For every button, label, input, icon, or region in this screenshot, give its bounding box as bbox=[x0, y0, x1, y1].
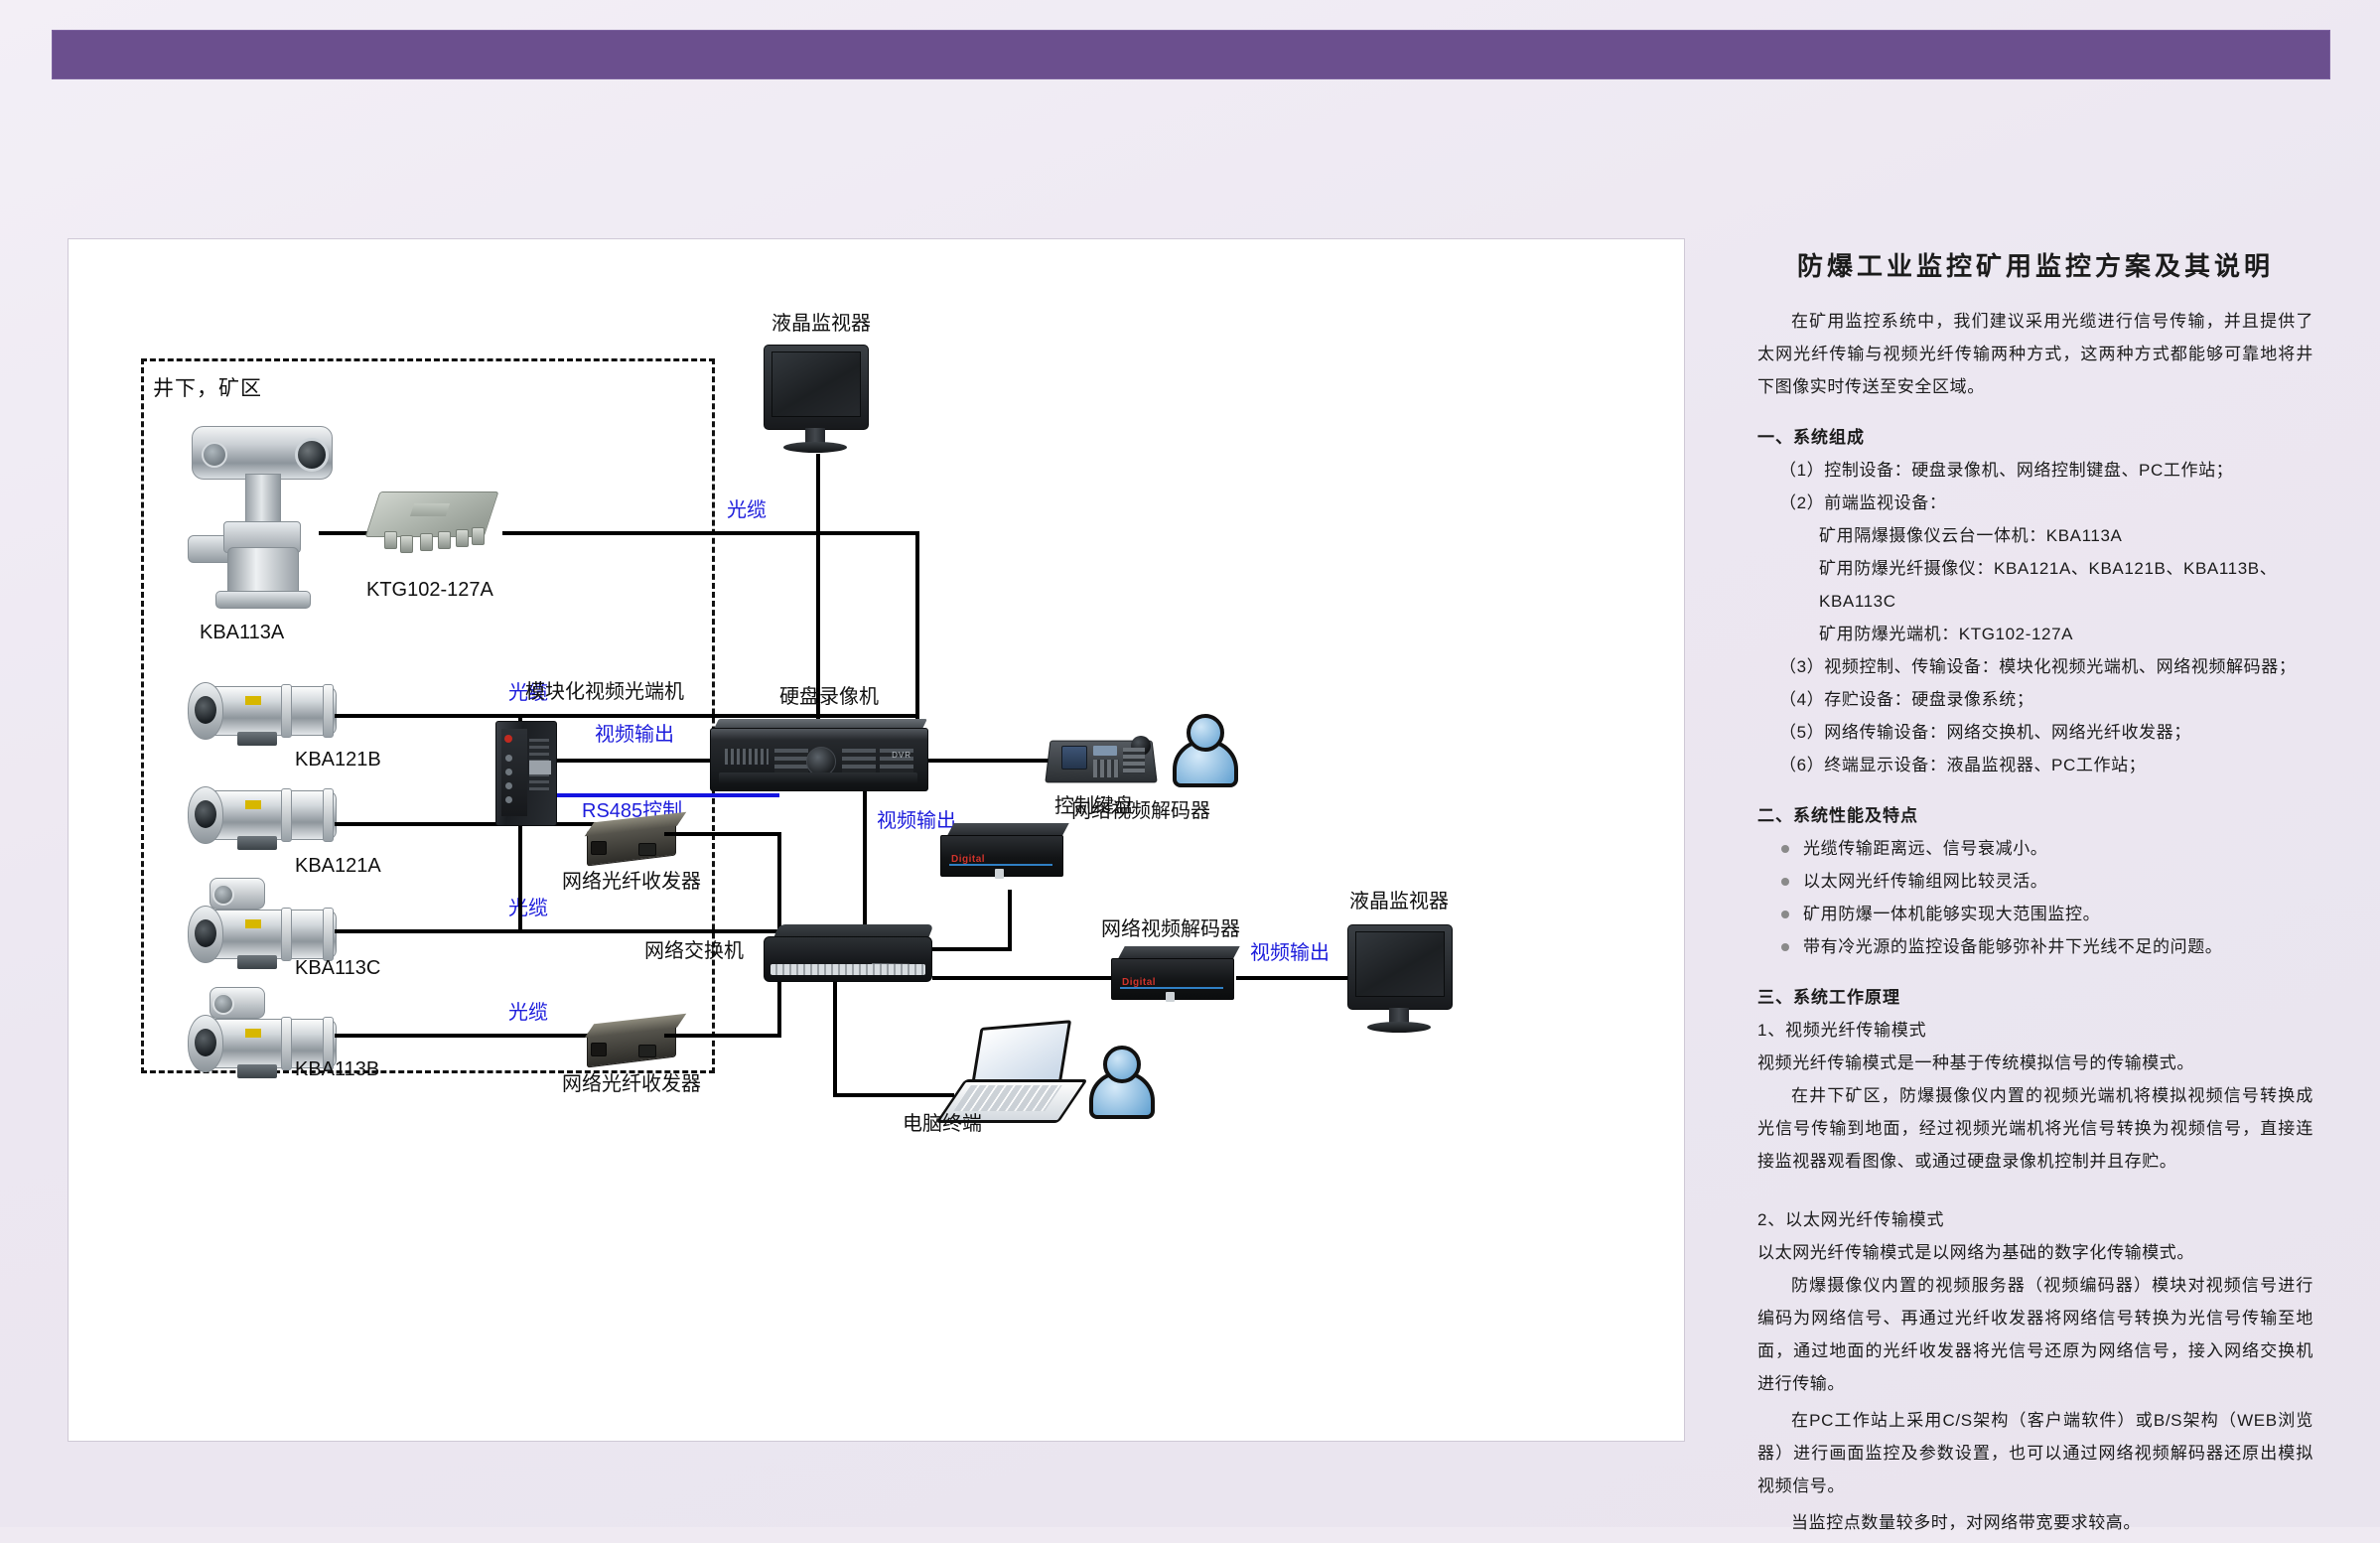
monitor-stand-base-icon bbox=[1367, 1022, 1431, 1033]
dvr-buttons-icon bbox=[774, 749, 808, 772]
header-banner bbox=[52, 30, 2330, 79]
device-control-keyboard bbox=[1048, 724, 1157, 785]
device-label-monitor-right: 液晶监视器 bbox=[1349, 891, 1449, 912]
section1-item: （3）视频控制、传输设备：模块化视频光端机、网络视频解码器； bbox=[1757, 650, 2313, 683]
avatar-head-icon bbox=[1187, 714, 1224, 752]
dvr-brand-label: DVR bbox=[892, 751, 911, 760]
wire-dvr-to-decoder-top bbox=[863, 791, 867, 924]
device-kba113a bbox=[168, 418, 356, 612]
device-dvr: DVR bbox=[710, 728, 928, 791]
device-label-media-converter-bottom: 网络光纤收发器 bbox=[562, 1073, 701, 1095]
camera-tag-icon bbox=[245, 1029, 261, 1038]
monitor-stand-base-icon bbox=[783, 442, 847, 453]
cable-gland-icon bbox=[400, 535, 413, 553]
camera-tag-icon bbox=[245, 919, 261, 928]
section-heading-3: 三、系统工作原理 bbox=[1757, 981, 2313, 1014]
wire-switch-to-decoder-bottom bbox=[932, 976, 1121, 980]
switch-chassis-icon bbox=[764, 936, 932, 982]
ptz-lens-icon bbox=[295, 438, 329, 472]
device-label-media-converter-top: 网络光纤收发器 bbox=[562, 871, 701, 893]
feature-bullet-text: 矿用防爆一体机能够实现大范围监控。 bbox=[1803, 905, 2100, 923]
wire-mc-bottom-to-switch bbox=[664, 1034, 781, 1038]
device-laptop bbox=[950, 1024, 1079, 1123]
wire-fiber-1 bbox=[502, 531, 919, 535]
mode2-paragraph-2: 在PC工作站上采用C/S架构（客户端软件）或B/S架构（WEB浏览器）进行画面监… bbox=[1757, 1404, 2313, 1502]
feature-bullet: 带有冷光源的监控设备能够弥补井下光线不足的问题。 bbox=[1757, 930, 2313, 963]
network-diagram-panel: 井下，矿区 KBA113A KTG102-127A 光缆 K bbox=[68, 238, 1685, 1442]
camera-housing-icon bbox=[204, 910, 337, 959]
wire-switch-to-laptop bbox=[833, 1093, 954, 1097]
device-label-kba113b: KBA113B bbox=[295, 1058, 379, 1080]
port-icon bbox=[505, 755, 512, 762]
bullet-dot-icon bbox=[1781, 911, 1789, 918]
monitor-screen-icon bbox=[1355, 931, 1445, 997]
dvr-drive-bay-icon bbox=[719, 772, 917, 784]
device-decoder-bottom: Digital bbox=[1111, 946, 1238, 1002]
camera-ring-icon bbox=[281, 1017, 292, 1070]
section1-subitem: 矿用隔爆摄像仪云台一体机：KBA113A bbox=[1757, 519, 2313, 552]
camera-ring-icon bbox=[281, 684, 292, 738]
dvr-status-leds-icon bbox=[725, 749, 769, 765]
feature-bullet: 以太网光纤传输组网比较灵活。 bbox=[1757, 865, 2313, 898]
switch-ports-icon bbox=[770, 964, 925, 975]
rj45-port-icon bbox=[638, 1045, 656, 1057]
avatar-head-icon bbox=[1103, 1046, 1141, 1083]
mode2-heading: 2、以太网光纤传输模式 bbox=[1757, 1203, 2313, 1236]
device-network-switch bbox=[764, 924, 934, 982]
mode2-line: 以太网光纤传输模式是以网络为基础的数字化传输模式。 bbox=[1757, 1236, 2313, 1269]
device-kba121a bbox=[186, 780, 354, 860]
avatar-operator-2 bbox=[1087, 1046, 1151, 1115]
camera-lens-icon bbox=[195, 800, 216, 828]
port-icon bbox=[505, 769, 512, 775]
feature-bullet: 矿用防爆一体机能够实现大范围监控。 bbox=[1757, 898, 2313, 930]
mode2-paragraph-3: 当监控点数量较多时，对网络带宽要求较高。 bbox=[1757, 1506, 2313, 1539]
ptz-foot-icon bbox=[215, 591, 311, 609]
bullet-dot-icon bbox=[1781, 943, 1789, 951]
section-heading-2: 二、系统性能及特点 bbox=[1757, 799, 2313, 832]
feature-bullet-text: 带有冷光源的监控设备能够弥补井下光线不足的问题。 bbox=[1803, 937, 2222, 956]
section1-item: （2）前端监视设备： bbox=[1757, 487, 2313, 519]
device-monitor-top bbox=[764, 345, 873, 456]
camera-light-lens-icon bbox=[212, 993, 234, 1015]
decoder-chassis-icon: Digital bbox=[940, 835, 1063, 877]
section1-item: （1）控制设备：硬盘录像机、网络控制键盘、PC工作站； bbox=[1757, 454, 2313, 487]
mine-zone-label: 井下，矿区 bbox=[153, 372, 262, 402]
camera-ring-icon bbox=[323, 908, 334, 961]
wire-switch-to-laptop-drop bbox=[833, 982, 837, 1097]
device-label-optical-transmitter: 模块化视频光端机 bbox=[525, 681, 684, 703]
section1-subitem: 矿用防爆光端机：KTG102-127A bbox=[1757, 618, 2313, 650]
device-label-ktg102: KTG102-127A bbox=[366, 579, 493, 601]
mode1-paragraph: 在井下矿区，防爆摄像仪内置的视频光端机将模拟视频信号转换成光信号传输到地面，经过… bbox=[1757, 1079, 2313, 1178]
device-media-converter-bottom bbox=[587, 1017, 682, 1068]
nameplate-icon bbox=[529, 761, 551, 774]
wire-dvr-to-keyboard bbox=[928, 759, 1050, 763]
link-label-fiber-1: 光缆 bbox=[727, 499, 767, 521]
link-label-fiber-5: 光缆 bbox=[508, 1002, 548, 1024]
monitor-screen-icon bbox=[771, 351, 861, 417]
wire-fiber-2 bbox=[335, 714, 919, 718]
camera-ring-icon bbox=[323, 684, 334, 738]
feature-bullet: 光缆传输距离远、信号衰减小。 bbox=[1757, 832, 2313, 865]
cable-gland-icon bbox=[456, 529, 469, 547]
link-label-fiber-4: 光缆 bbox=[508, 898, 548, 919]
camera-lens-icon bbox=[195, 919, 216, 947]
section1-item: （4）存贮设备：硬盘录像系统； bbox=[1757, 683, 2313, 716]
wire-mc-top-to-switch bbox=[664, 832, 781, 836]
decoder-button-icon bbox=[1166, 992, 1175, 1002]
device-media-converter-top bbox=[587, 815, 682, 867]
feature-bullet-text: 光缆传输距离远、信号衰减小。 bbox=[1803, 839, 2047, 858]
keyboard-lcd-icon bbox=[1093, 746, 1117, 756]
wire-rs485-control bbox=[557, 793, 779, 797]
port-icon bbox=[505, 796, 512, 803]
device-label-kba113c: KBA113C bbox=[295, 957, 380, 979]
mode1-heading: 1、视频光纤传输模式 bbox=[1757, 1014, 2313, 1047]
intro-paragraph: 在矿用监控系统中，我们建议采用光缆进行信号传输，并且提供了太网光纤传输与视频光纤… bbox=[1757, 305, 2313, 403]
keyboard-keys-icon[interactable] bbox=[1123, 748, 1145, 773]
wire-switch-decoder-top-rise bbox=[1008, 890, 1012, 949]
dvr-buttons-icon bbox=[842, 749, 876, 772]
laptop-keyboard-icon[interactable] bbox=[953, 1085, 1062, 1111]
camera-tag-icon bbox=[245, 696, 261, 705]
camera-mount-icon bbox=[237, 955, 277, 969]
device-label-decoder-top: 网络视频解码器 bbox=[1071, 800, 1210, 822]
device-label-network-switch: 网络交换机 bbox=[644, 940, 744, 962]
device-optical-transmitter bbox=[495, 721, 557, 826]
section1-item: （5）网络传输设备：网络交换机、网络光纤收发器； bbox=[1757, 716, 2313, 749]
fiber-port-icon bbox=[591, 1043, 607, 1056]
decoder-button-icon bbox=[995, 869, 1004, 879]
wire-monitor-to-dvr bbox=[816, 454, 820, 726]
link-label-video-output-1: 视频输出 bbox=[595, 724, 674, 746]
mode1-line: 视频光纤传输模式是一种基于传统模拟信号的传输模式。 bbox=[1757, 1047, 2313, 1079]
keyboard-keys-icon[interactable] bbox=[1093, 760, 1119, 777]
section1-subitem: 矿用防爆光纤摄像仪：KBA121A、KBA121B、KBA113B、KBA113… bbox=[1757, 552, 2313, 618]
wire-switch-to-decoder-top bbox=[932, 947, 1012, 951]
keyboard-display-icon bbox=[1061, 746, 1087, 770]
device-label-decoder-bottom: 网络视频解码器 bbox=[1101, 918, 1240, 940]
device-kba121b bbox=[186, 676, 354, 756]
device-label-laptop: 电脑终端 bbox=[903, 1113, 982, 1135]
camera-mount-icon bbox=[237, 732, 277, 746]
camera-lens-icon bbox=[195, 1029, 216, 1056]
camera-ring-icon bbox=[281, 788, 292, 842]
ptz-ir-lamp-icon bbox=[202, 442, 227, 468]
camera-ring-icon bbox=[281, 908, 292, 961]
description-column: 防爆工业监控矿用监控方案及其说明 在矿用监控系统中，我们建议采用光缆进行信号传输… bbox=[1757, 246, 2313, 1543]
device-label-dvr: 硬盘录像机 bbox=[779, 686, 879, 708]
dvr-chassis-icon: DVR bbox=[710, 728, 928, 791]
ptz-base-icon bbox=[227, 547, 299, 597]
camera-housing-icon bbox=[204, 790, 337, 840]
device-label-kba121a: KBA121A bbox=[295, 855, 381, 877]
cable-gland-icon bbox=[420, 533, 433, 551]
section1-item: （6）终端显示设备：液晶监视器、PC工作站； bbox=[1757, 749, 2313, 781]
rj45-port-icon bbox=[638, 843, 656, 856]
camera-lens-icon bbox=[195, 696, 216, 724]
power-led-icon bbox=[504, 735, 512, 743]
device-ktg102 bbox=[366, 488, 505, 567]
camera-ring-icon bbox=[323, 788, 334, 842]
decoder-chassis-icon: Digital bbox=[1111, 958, 1234, 1000]
link-label-video-output-3: 视频输出 bbox=[1250, 942, 1330, 964]
camera-mount-icon bbox=[237, 836, 277, 850]
camera-mount-icon bbox=[237, 1064, 277, 1078]
mode2-paragraph-1: 防爆摄像仪内置的视频服务器（视频编码器）模块对视频信号进行编码为网络信号、再通过… bbox=[1757, 1269, 2313, 1400]
fiber-port-icon bbox=[591, 841, 607, 855]
device-decoder-top: Digital bbox=[940, 823, 1067, 879]
cable-gland-icon bbox=[472, 527, 485, 545]
section-heading-1: 一、系统组成 bbox=[1757, 421, 2313, 454]
device-monitor-right bbox=[1347, 924, 1457, 1036]
decoder-accent-line-icon bbox=[1120, 987, 1223, 989]
junction-box-plate-icon bbox=[410, 503, 450, 516]
device-label-monitor-top: 液晶监视器 bbox=[771, 313, 871, 335]
device-label-kba113a: KBA113A bbox=[200, 622, 284, 643]
camera-housing-icon bbox=[204, 686, 337, 736]
cable-gland-icon bbox=[384, 531, 397, 549]
avatar-operator-1 bbox=[1171, 714, 1234, 783]
port-icon bbox=[505, 782, 512, 789]
wire-mc-bottom-rise bbox=[777, 979, 781, 1037]
wire-video-output-3 bbox=[1236, 976, 1349, 980]
bullet-dot-icon bbox=[1781, 845, 1789, 853]
bullet-dot-icon bbox=[1781, 878, 1789, 886]
cable-gland-icon bbox=[438, 531, 451, 549]
page-title: 防爆工业监控矿用监控方案及其说明 bbox=[1757, 246, 2313, 283]
device-label-kba121b: KBA121B bbox=[295, 749, 381, 771]
decoder-accent-line-icon bbox=[949, 864, 1052, 866]
camera-tag-icon bbox=[245, 800, 261, 809]
camera-light-lens-icon bbox=[212, 884, 234, 906]
feature-bullet-text: 以太网光纤传输组网比较灵活。 bbox=[1803, 872, 2047, 891]
